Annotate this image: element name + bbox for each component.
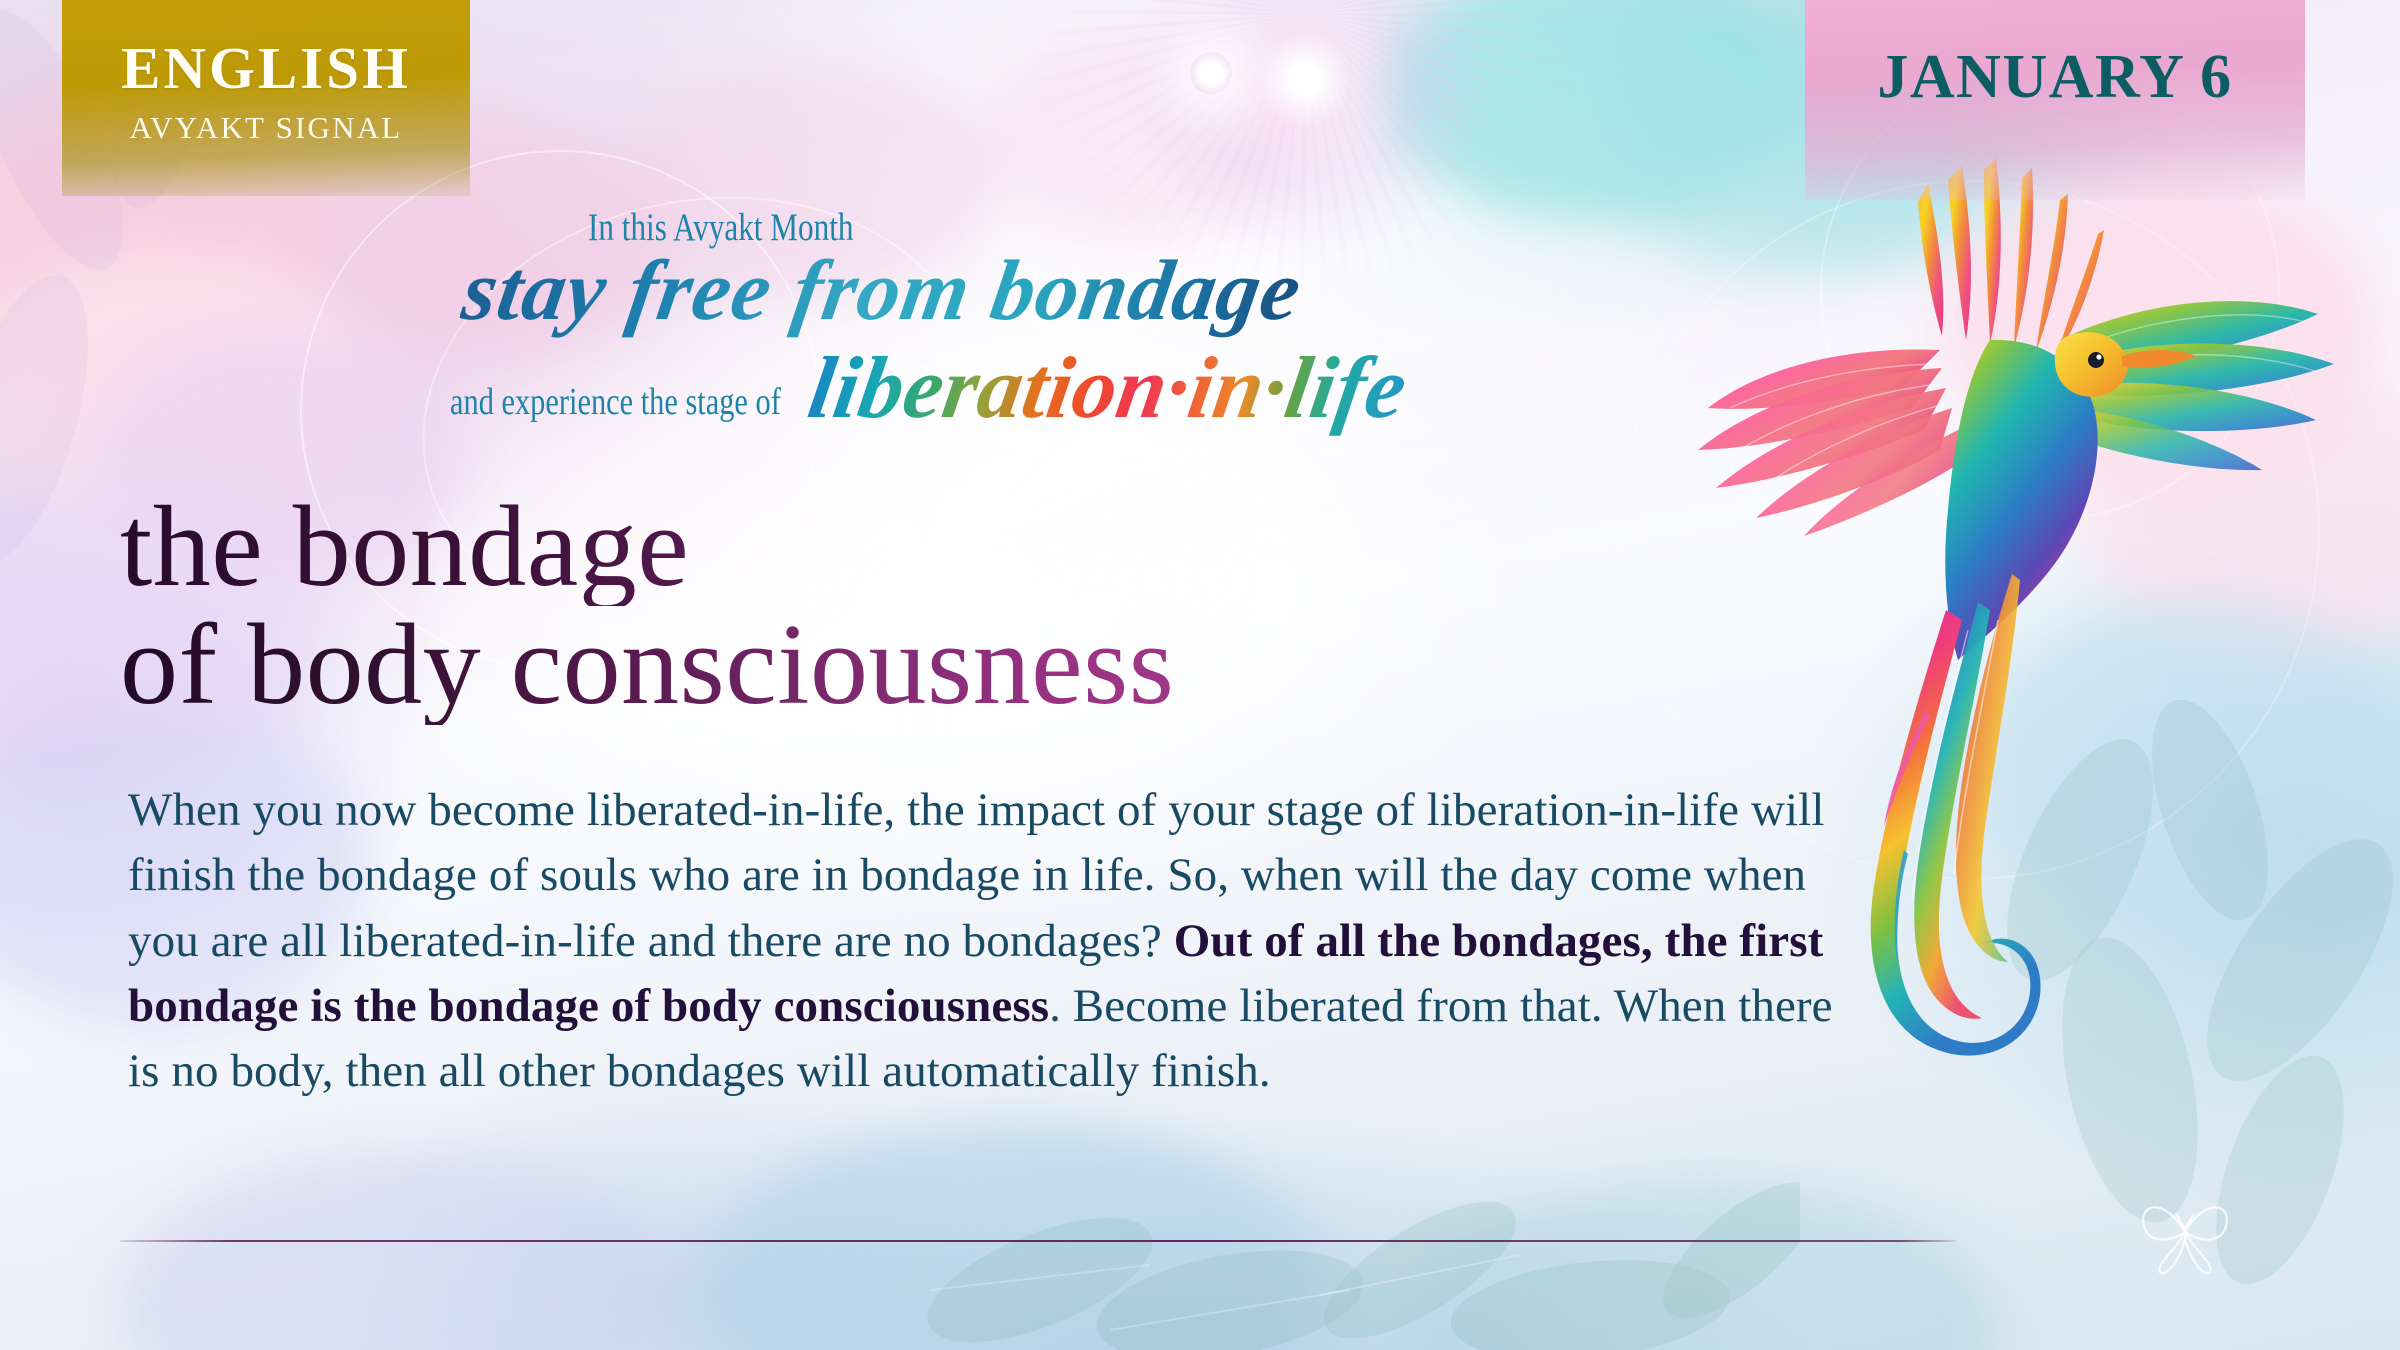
headline-line-1: the bondage	[120, 488, 1580, 606]
poster-canvas: ENGLISH AVYAKT SIGNAL JANUARY 6 In this …	[0, 0, 2400, 1350]
language-badge-secondary: AVYAKT SIGNAL	[62, 110, 470, 146]
tagline-line-3-lead: and experience the stage of	[450, 380, 781, 424]
date-badge-label: JANUARY 6	[1877, 0, 2232, 113]
tagline-line-2: stay free from bondage	[464, 246, 1750, 350]
body-paragraph: When you now become liberated-in-life, t…	[128, 778, 1846, 1105]
sun-core-icon	[1190, 52, 1232, 94]
tagline-line-3: and experience the stage of liberation·i…	[450, 354, 1750, 450]
language-badge: ENGLISH AVYAKT SIGNAL	[62, 0, 470, 196]
language-badge-primary: ENGLISH	[62, 0, 470, 98]
date-badge: JANUARY 6	[1805, 0, 2305, 200]
headline-line-2: of body consciousness	[120, 606, 1580, 724]
title-divider	[120, 1240, 1956, 1242]
tagline-script-liberation-in-life: liberation·in·life	[802, 338, 1414, 439]
tagline-block: In this Avyakt Month stay free from bond…	[450, 205, 1750, 450]
tagline-script-stay-free: stay free from bondage	[456, 240, 1308, 340]
butterfly-icon	[2130, 1180, 2240, 1280]
page-title: the bondage of body consciousness	[120, 488, 1580, 725]
